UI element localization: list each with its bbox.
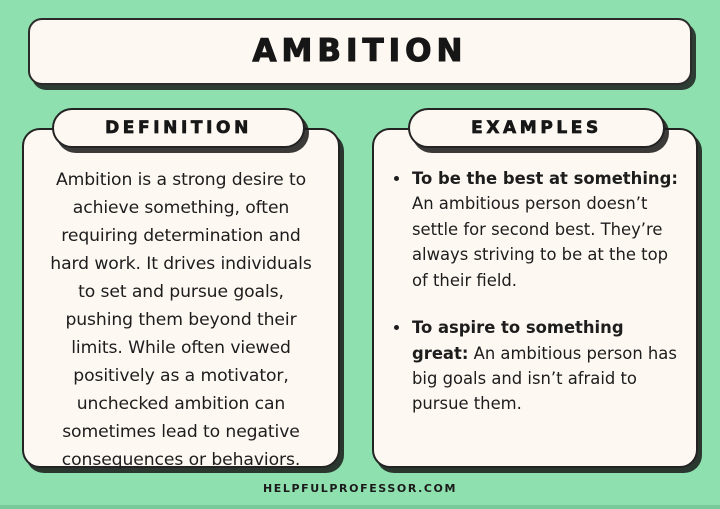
page-title: AMBITION: [253, 36, 468, 67]
attribution-text: HELPFULPROFESSOR.COM: [263, 482, 457, 495]
infographic-card: AMBITION Ambition is a strong desire to …: [0, 0, 720, 509]
bullet-icon: [394, 325, 399, 330]
footer: HELPFULPROFESSOR.COM: [0, 479, 720, 497]
bullet-icon: [394, 176, 399, 181]
title-card: AMBITION: [28, 18, 692, 85]
example-term: To be the best at something:: [412, 169, 678, 188]
examples-header-pill: EXAMPLES: [408, 108, 665, 148]
definition-panel-body: Ambition is a strong desire to achieve s…: [24, 166, 338, 456]
definition-panel: Ambition is a strong desire to achieve s…: [22, 128, 340, 468]
examples-list: To be the best at something: An ambitiou…: [392, 166, 678, 417]
list-item: To aspire to something great: An ambitio…: [392, 315, 678, 417]
definition-text: Ambition is a strong desire to achieve s…: [42, 166, 320, 474]
example-description: An ambitious person doesn’t settle for s…: [412, 194, 668, 289]
list-item: To be the best at something: An ambitiou…: [392, 166, 678, 293]
examples-panel-body: To be the best at something: An ambitiou…: [374, 166, 696, 456]
examples-header-label: EXAMPLES: [471, 120, 602, 137]
definition-header-label: DEFINITION: [105, 120, 252, 137]
definition-header-pill: DEFINITION: [52, 108, 305, 148]
examples-panel: To be the best at something: An ambitiou…: [372, 128, 698, 468]
